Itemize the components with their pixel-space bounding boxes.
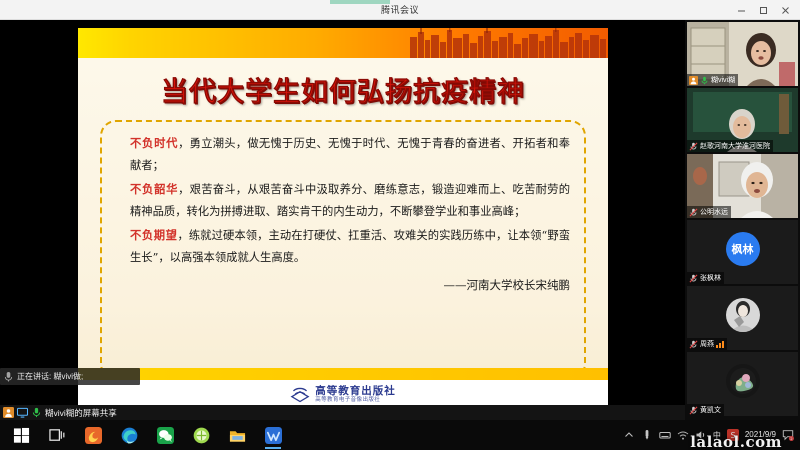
paragraph-text: ，勇立潮头，做无愧于历史、无愧于时代、无愧于青春的奋进者、开拓者和奉献者；	[130, 137, 570, 172]
paragraph-text: ，练就过硬本领，主动在打硬仗、扛重活、攻难关的实践历练中，让本领“野蛮生长”，以…	[130, 229, 570, 264]
mic-muted-icon	[689, 208, 698, 217]
ime-indicator[interactable]: 中	[713, 430, 721, 441]
sogou-ime-icon[interactable]: S	[727, 429, 739, 441]
window-titlebar: 腾讯会议	[0, 0, 800, 20]
avatar: 枫林	[726, 232, 760, 266]
publisher-mark-icon	[290, 386, 310, 404]
active-speaker-label: 正在讲话: 糊vivi做;	[17, 371, 83, 382]
mic-muted-icon	[689, 142, 698, 151]
presentation-slide: 当代大学生如何弘扬抗疫精神 不负时代，勇立潮头，做无愧于历史、无愧于时代、无愧于…	[78, 28, 608, 410]
tab-stub	[330, 0, 390, 4]
window-title: 腾讯会议	[381, 3, 419, 16]
slide-paragraph: 不负韶华，艰苦奋斗，从艰苦奋斗中汲取养分、磨练意志，锻造迎难而上、吃苦耐劳的精神…	[116, 178, 570, 223]
windows-taskbar: 中 S 2021/9/9 2 lalaol.com	[0, 420, 800, 450]
taskbar-apps	[0, 420, 290, 450]
participant-tile[interactable]: 糊vivi糊	[687, 22, 798, 86]
participant-name: 糊vivi糊	[711, 75, 735, 85]
taskbar-app-wechat[interactable]	[148, 420, 182, 450]
user-icon	[689, 76, 698, 85]
participant-tile[interactable]: 公明水远	[687, 154, 798, 218]
paragraph-lead: 不负韶华	[130, 182, 178, 196]
taskbar-app-edge[interactable]	[112, 420, 146, 450]
slide-paragraph: 不负时代，勇立潮头，做无愧于历史、无愧于时代、无愧于青春的奋进者、开拓者和奉献者…	[116, 132, 570, 177]
wechat-icon	[157, 427, 174, 444]
screen-icon	[17, 407, 28, 418]
participant-namebar: 赵歌河南大学淮河医院	[687, 140, 773, 152]
screen-share-label: 糊vivi糊的屏幕共享	[45, 407, 117, 419]
minimize-button[interactable]	[730, 0, 752, 20]
edge-icon	[121, 427, 138, 444]
avatar	[726, 364, 760, 398]
slide-title: 当代大学生如何弘扬抗疫精神	[78, 70, 608, 109]
clock[interactable]: 2021/9/9	[745, 430, 776, 440]
start-button[interactable]	[4, 420, 38, 450]
close-button[interactable]	[774, 0, 796, 20]
pen-icon[interactable]	[641, 429, 653, 441]
taskbar-app-browser[interactable]	[184, 420, 218, 450]
participant-tile[interactable]: 枫林 张枫林	[687, 220, 798, 284]
mic-muted-icon	[689, 340, 698, 349]
participant-name: 张枫林	[700, 273, 721, 283]
firefox-icon	[85, 427, 102, 444]
windows-logo-icon	[13, 427, 30, 444]
slide-attribution: ——河南大学校长宋纯鹏	[116, 277, 570, 293]
chevron-up-icon[interactable]	[623, 429, 635, 441]
browser-icon	[193, 427, 210, 444]
avatar-photo-icon	[726, 298, 760, 332]
paragraph-text: ，艰苦奋斗，从艰苦奋斗中汲取养分、磨练意志，锻造迎难而上、吃苦耐劳的精神品质，转…	[130, 183, 570, 218]
slide-body: 当代大学生如何弘扬抗疫精神 不负时代，勇立潮头，做无愧于历史、无愧于时代、无愧于…	[78, 58, 608, 410]
participant-tile[interactable]: 赵歌河南大学淮河医院	[687, 88, 798, 152]
maximize-button[interactable]	[752, 0, 774, 20]
publisher-subname: 高等教育电子音像出版社	[315, 398, 396, 404]
mic-muted-icon	[689, 406, 698, 415]
taskbar-app-firefox[interactable]	[76, 420, 110, 450]
participant-namebar: 周燕	[687, 338, 727, 350]
microphone-icon	[31, 407, 42, 418]
slide-footer-band	[78, 368, 608, 380]
taskbar-app-tencent-meeting[interactable]	[256, 420, 290, 450]
shared-screen-stage[interactable]: 当代大学生如何弘扬抗疫精神 不负时代，勇立潮头，做无愧于历史、无愧于时代、无愧于…	[0, 20, 685, 420]
participant-namebar: 糊vivi糊	[687, 74, 738, 86]
participant-namebar: 张枫林	[687, 272, 724, 284]
avatar-photo-icon	[726, 364, 760, 398]
participant-tile[interactable]: 黄凯文	[687, 352, 798, 416]
microphone-icon	[700, 76, 709, 85]
microphone-icon	[4, 371, 13, 382]
participant-name: 周燕	[700, 339, 714, 349]
task-view-icon	[49, 427, 66, 444]
system-tray: 中 S 2021/9/9 2 lalaol.com	[623, 429, 800, 441]
paragraph-lead: 不负时代	[130, 136, 178, 150]
participant-namebar: 黄凯文	[687, 404, 724, 416]
tencent-meeting-icon	[265, 427, 282, 444]
participant-tile[interactable]: 周燕	[687, 286, 798, 350]
clock-date: 2021/9/9	[745, 430, 776, 440]
wifi-icon[interactable]	[677, 429, 689, 441]
screen-share-bar: 糊vivi糊的屏幕共享	[0, 405, 685, 420]
slide-content-box: 不负时代，勇立潮头，做无愧于历史、无愧于时代、无愧于青春的奋进者、开拓者和奉献者…	[100, 120, 586, 380]
participant-namebar: 公明水远	[687, 206, 731, 218]
participant-name: 黄凯文	[700, 405, 721, 415]
slide-header-band	[78, 28, 608, 58]
participant-name: 公明水远	[700, 207, 728, 217]
window-controls	[730, 0, 796, 20]
city-skyline-icon	[408, 28, 608, 58]
participant-name: 赵歌河南大学淮河医院	[700, 141, 770, 151]
share-user-icon	[3, 407, 14, 418]
mic-muted-icon	[689, 274, 698, 283]
task-view-button[interactable]	[40, 420, 74, 450]
folder-icon	[229, 427, 246, 444]
notification-icon[interactable]: 2	[782, 429, 794, 441]
taskbar-app-file-explorer[interactable]	[220, 420, 254, 450]
signal-strength-icon	[716, 340, 724, 348]
active-speaker-toast: 正在讲话: 糊vivi做;	[0, 368, 140, 385]
publisher-name: 高等教育出版社	[315, 386, 396, 397]
avatar	[726, 298, 760, 332]
slide-paragraph: 不负期望，练就过硬本领，主动在打硬仗、扛重活、攻难关的实践历练中，让本领“野蛮生…	[116, 224, 570, 269]
participants-rail[interactable]: 糊vivi糊 赵歌河南大学淮河医院	[685, 20, 800, 420]
volume-icon[interactable]	[695, 429, 707, 441]
keyboard-icon[interactable]	[659, 429, 671, 441]
paragraph-lead: 不负期望	[130, 228, 178, 242]
screen: 腾讯会议	[0, 0, 800, 450]
svg-text:S: S	[730, 431, 735, 440]
